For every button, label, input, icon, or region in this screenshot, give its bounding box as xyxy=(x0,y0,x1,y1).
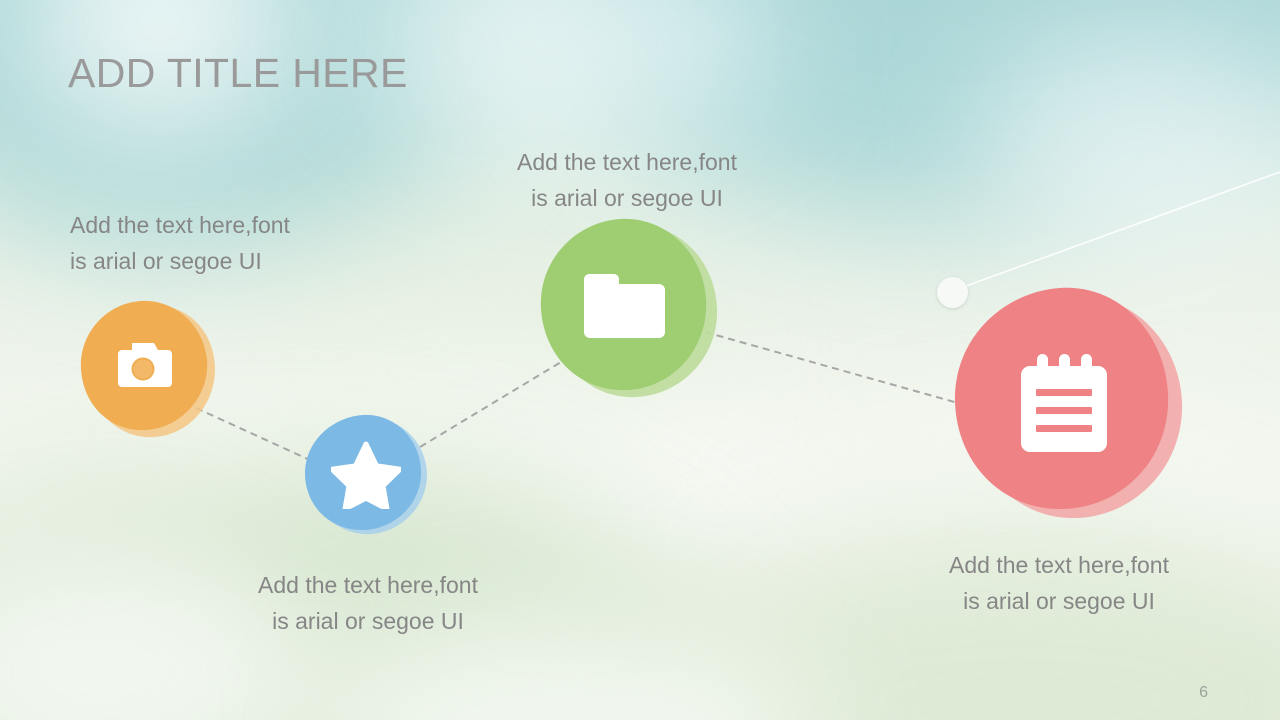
balloon-string xyxy=(966,172,1280,286)
caption-folder-line2: is arial or segoe UI xyxy=(490,181,764,217)
slide-canvas: ADD TITLE HERE Add the xyxy=(0,0,1280,720)
caption-star-line1: Add the text here,font xyxy=(232,568,504,604)
caption-star-line2: is arial or segoe UI xyxy=(232,604,504,640)
caption-notepad-line2: is arial or segoe UI xyxy=(922,584,1196,620)
bg-blob-white-top-right xyxy=(980,30,1280,260)
notepad-icon-wrap xyxy=(941,283,1186,525)
balloon-dot-icon xyxy=(937,277,968,308)
notepad-icon xyxy=(1015,352,1113,456)
bg-blob-white-top-mid xyxy=(360,0,780,140)
caption-camera-line2: is arial or segoe UI xyxy=(70,244,290,280)
caption-notepad-line1: Add the text here,font xyxy=(922,548,1196,584)
caption-folder: Add the text here,font is arial or segoe… xyxy=(490,145,764,216)
connector-folder-to-notepad xyxy=(705,332,958,403)
caption-notepad: Add the text here,font is arial or segoe… xyxy=(922,548,1196,619)
node-camera[interactable] xyxy=(78,298,218,443)
caption-camera-line1: Add the text here,font xyxy=(70,208,290,244)
folder-icon-wrap xyxy=(528,213,720,401)
caption-folder-line1: Add the text here,font xyxy=(490,145,764,181)
node-star[interactable] xyxy=(297,413,439,541)
node-folder[interactable] xyxy=(532,217,724,405)
page-number: 6 xyxy=(1199,684,1208,702)
caption-star: Add the text here,font is arial or segoe… xyxy=(232,568,504,639)
folder-icon xyxy=(579,271,669,343)
caption-camera: Add the text here,font is arial or segoe… xyxy=(70,208,290,279)
node-notepad[interactable] xyxy=(944,286,1189,528)
page-title: ADD TITLE HERE xyxy=(68,50,408,97)
camera-icon-wrap xyxy=(73,292,213,437)
star-icon-wrap xyxy=(295,411,437,539)
camera-icon xyxy=(112,340,174,390)
star-icon xyxy=(331,441,401,509)
